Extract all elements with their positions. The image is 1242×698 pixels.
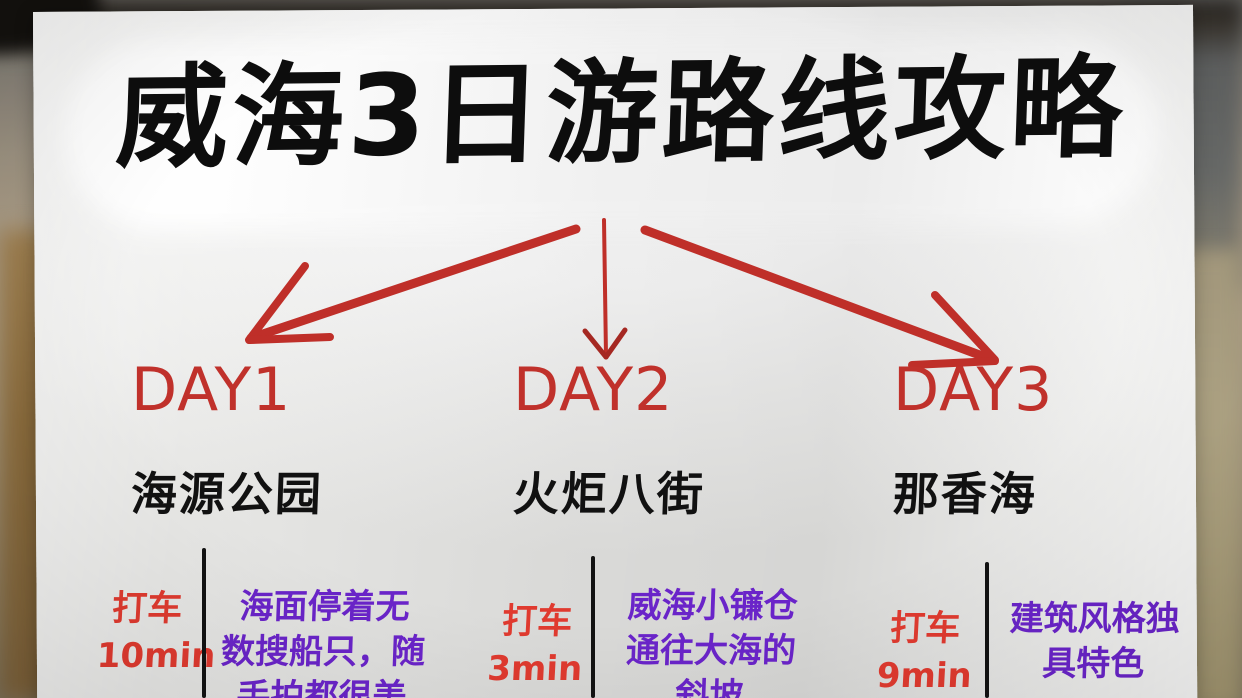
page-title: 威海3日游路线攻略 <box>0 51 1242 176</box>
day-label-1: DAY1 <box>131 360 323 420</box>
day-column-3: DAY3 那香海 <box>893 360 1053 524</box>
transport-mode-3: 打车 <box>889 609 961 649</box>
divider-3 <box>985 562 989 698</box>
transport-2: 打车 3min <box>486 598 587 693</box>
day-column-1: DAY1 海源公园 <box>131 360 323 524</box>
place-name-1: 海源公园 <box>130 458 324 524</box>
arrow-to-day3-icon <box>645 230 995 365</box>
transport-duration-2: 3min <box>486 646 584 693</box>
note-2: 威海小镰仓 通往大海的 斜坡 <box>604 584 819 698</box>
transport-duration-3: 9min <box>876 653 970 698</box>
place-name-3: 那香海 <box>892 458 1055 524</box>
arrow-to-day1-icon <box>249 229 576 340</box>
note-3: 建筑风格独 具特色 <box>994 597 1193 687</box>
transport-mode-1: 打车 <box>111 589 183 629</box>
day-label-2: DAY2 <box>513 360 705 420</box>
transport-3: 打车 9min <box>876 605 973 698</box>
detail-row-2: 打车 3min 威海小镰仓 通往大海的 斜坡 <box>488 598 816 698</box>
note-1: 海面停着无 数搜船只，随 手拍都很美 <box>218 585 429 698</box>
poster-photo: 威海3日游路线攻略 DAY1 海源 <box>0 0 1242 698</box>
divider-1 <box>202 548 206 698</box>
divider-2 <box>591 556 595 698</box>
detail-row-1: 打车 10min 海面停着无 数搜船只，随 手拍都很美 <box>98 585 426 698</box>
transport-mode-2: 打车 <box>501 602 573 642</box>
day-column-2: DAY2 火炬八街 <box>513 360 705 524</box>
day-label-3: DAY3 <box>893 360 1053 420</box>
transport-duration-1: 10min <box>96 633 194 680</box>
place-name-2: 火炬八街 <box>512 458 706 524</box>
transport-1: 打车 10min <box>96 585 197 680</box>
detail-row-3: 打车 9min 建筑风格独 具特色 <box>878 605 1192 698</box>
arrow-to-day2-icon <box>585 220 625 357</box>
